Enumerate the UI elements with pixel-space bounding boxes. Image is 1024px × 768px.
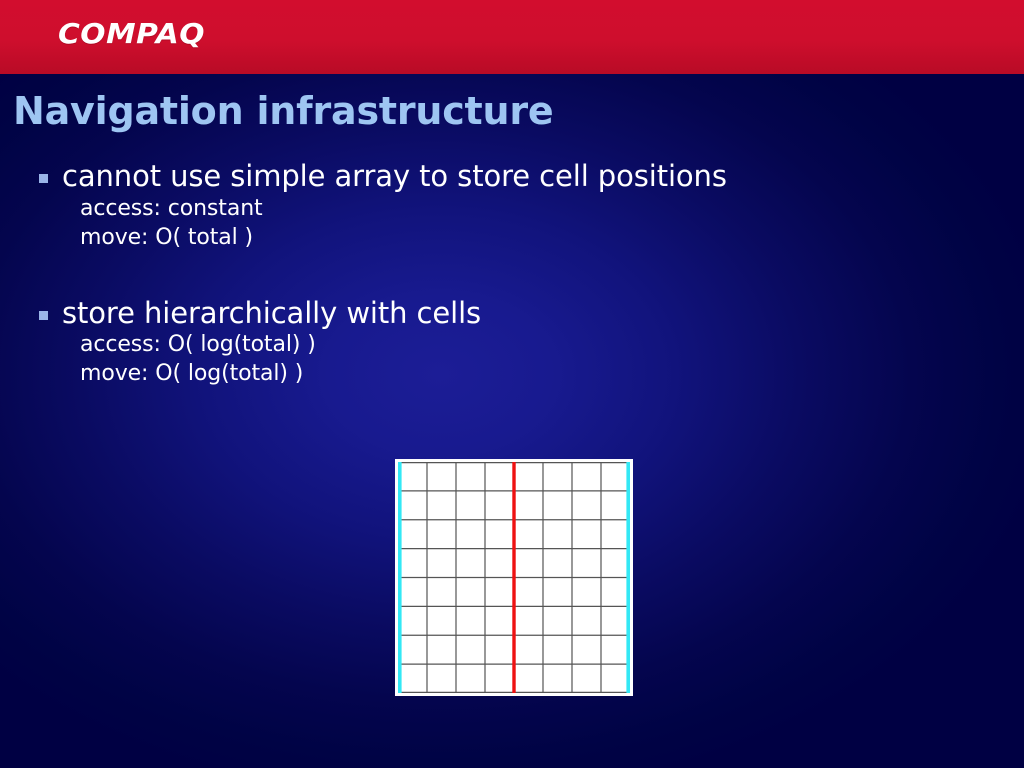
compaq-logo: COMPAQ	[58, 20, 205, 48]
block-spacer	[0, 252, 1024, 297]
bullet-text: store hierarchically with cells	[38, 297, 481, 331]
header-banner: COMPAQ	[0, 0, 1024, 74]
bullet-block: cannot use simple array to store cell po…	[0, 160, 1024, 252]
slide-canvas: COMPAQ Navigation infrastructure cannot …	[0, 0, 1024, 768]
cell-grid-diagram	[395, 459, 633, 696]
square-bullet-icon	[39, 174, 48, 183]
sub-line: move: O( log(total) )	[0, 359, 1024, 388]
cell-grid-svg	[398, 462, 630, 693]
sub-line: move: O( total )	[0, 223, 1024, 252]
square-bullet-icon	[39, 311, 48, 320]
bullet-block: store hierarchically with cells access: …	[0, 297, 1024, 389]
page-title: Navigation infrastructure	[13, 90, 993, 133]
bullet-text: cannot use simple array to store cell po…	[38, 160, 727, 194]
cell-grid-inner	[398, 462, 630, 693]
bullet-row: store hierarchically with cells	[0, 297, 1024, 331]
slide-body: cannot use simple array to store cell po…	[0, 160, 1024, 388]
sub-line: access: O( log(total) )	[0, 330, 1024, 359]
sub-line: access: constant	[0, 194, 1024, 223]
bullet-row: cannot use simple array to store cell po…	[0, 160, 1024, 194]
